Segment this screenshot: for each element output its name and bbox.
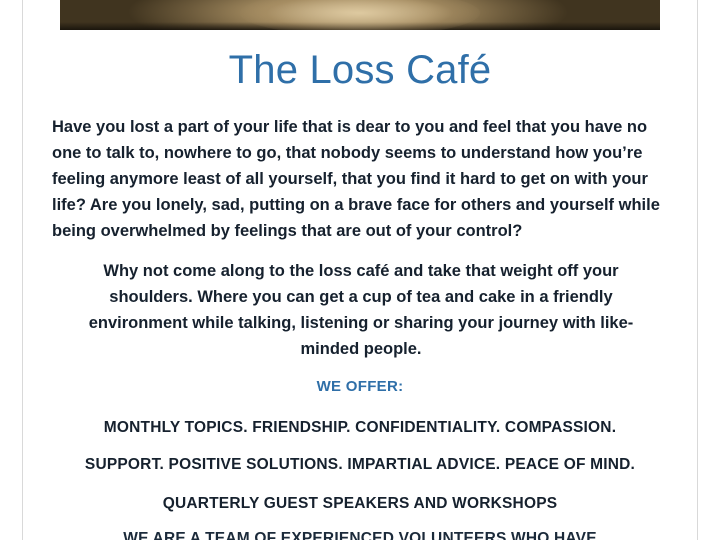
offer-line-2: SUPPORT. POSITIVE SOLUTIONS. IMPARTIAL A… <box>0 456 720 474</box>
document-page: The Loss Café Have you lost a part of yo… <box>0 0 720 540</box>
offer-line-1: MONTHLY TOPICS. FRIENDSHIP. CONFIDENTIAL… <box>0 419 720 437</box>
offer-line-3: QUARTERLY GUEST SPEAKERS AND WORKSHOPS <box>0 495 720 513</box>
offer-line-4-clip: WE ARE A TEAM OF EXPERIENCED VOLUNTEERS … <box>0 526 720 540</box>
invitation-paragraph: Why not come along to the loss café and … <box>68 258 654 362</box>
coffee-cup-image <box>60 0 660 30</box>
intro-paragraph: Have you lost a part of your life that i… <box>52 114 668 244</box>
banner-photo <box>60 0 660 30</box>
offer-heading: WE OFFER: <box>0 378 720 395</box>
page-title: The Loss Café <box>0 48 720 92</box>
offer-line-4: WE ARE A TEAM OF EXPERIENCED VOLUNTEERS … <box>0 530 720 540</box>
